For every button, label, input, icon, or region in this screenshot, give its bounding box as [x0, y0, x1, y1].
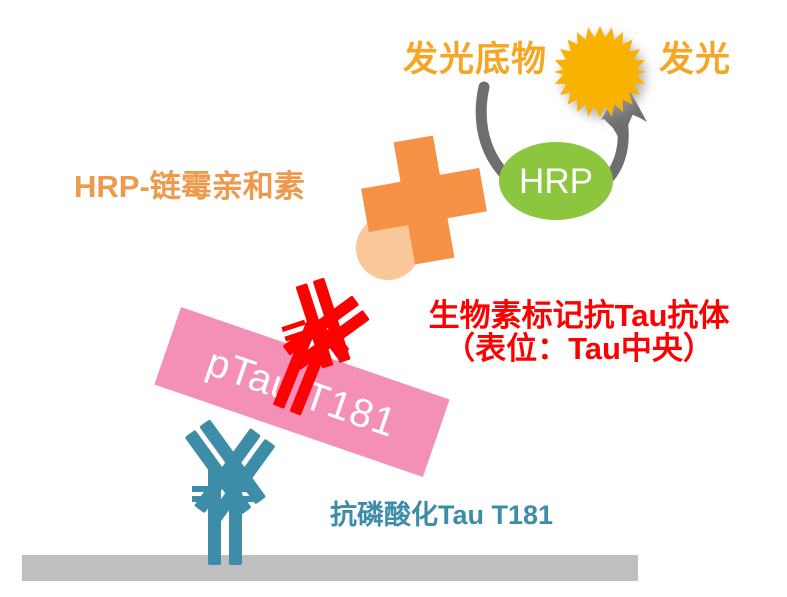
label-hrp-streptavidin: HRP-链霉亲和素 [74, 171, 305, 204]
hrp-label: HRP [519, 162, 593, 201]
label-detection-antibody: 生物素标记抗Tau抗体 （表位：Tau中央） [404, 300, 754, 365]
label-detection-antibody-line1: 生物素标记抗Tau抗体 [429, 298, 730, 333]
label-detection-antibody-line2: （表位：Tau中央） [404, 333, 754, 366]
capture-antibody-icon [185, 419, 276, 565]
label-capture-antibody: 抗磷酸化Tau T181 [330, 501, 553, 529]
sun-burst-icon [554, 26, 646, 118]
label-luminescent-substrate: 发光底物 [403, 42, 547, 79]
figure-canvas: pTau T181 [0, 0, 787, 597]
label-luminescence: 发光 [659, 42, 731, 79]
hrp-enzyme: HRP [499, 142, 613, 220]
plate-surface-bar [22, 555, 638, 581]
